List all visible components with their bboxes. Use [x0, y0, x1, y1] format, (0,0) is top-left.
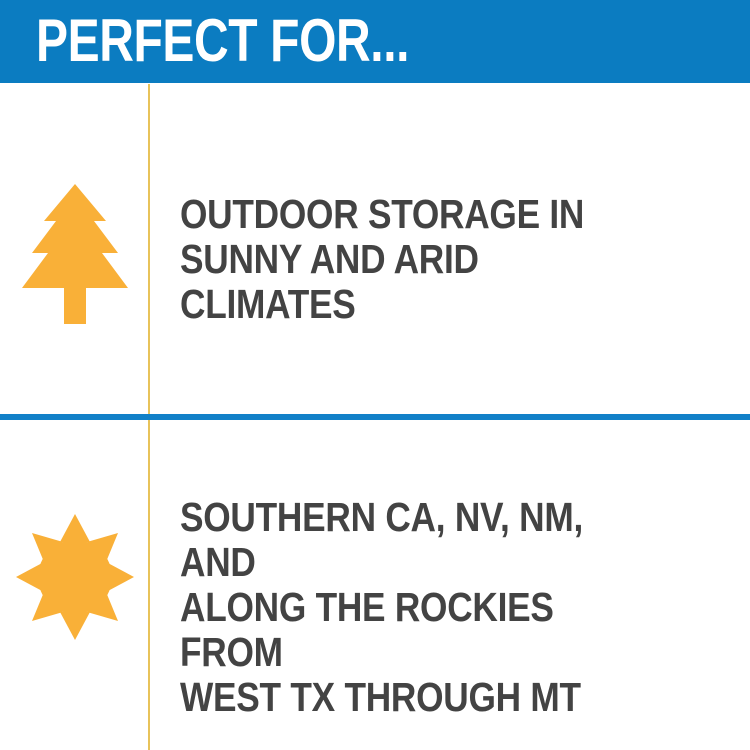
sun-icon	[16, 514, 134, 640]
icon-cell-tree	[0, 84, 148, 414]
pine-tree-icon	[22, 184, 128, 324]
page-title: PERFECT FOR...	[36, 6, 409, 76]
feature-headline: OUTDOOR STORAGE IN SUNNY AND ARID CLIMAT…	[180, 192, 662, 327]
feature-row-outdoor-storage: OUTDOOR STORAGE IN SUNNY AND ARID CLIMAT…	[0, 84, 750, 414]
text-cell-outdoor-storage: OUTDOOR STORAGE IN SUNNY AND ARID CLIMAT…	[180, 84, 740, 414]
icon-cell-sun	[0, 420, 148, 750]
feature-headline: SOUTHERN CA, NV, NM, AND ALONG THE ROCKI…	[180, 495, 662, 720]
text-cell-regions: SOUTHERN CA, NV, NM, AND ALONG THE ROCKI…	[180, 420, 740, 750]
feature-row-regions: SOUTHERN CA, NV, NM, AND ALONG THE ROCKI…	[0, 420, 750, 750]
header-bar: PERFECT FOR...	[0, 0, 750, 83]
perfect-for-infographic: PERFECT FOR... OUTDOOR STORAGE IN SUNNY …	[0, 0, 750, 750]
